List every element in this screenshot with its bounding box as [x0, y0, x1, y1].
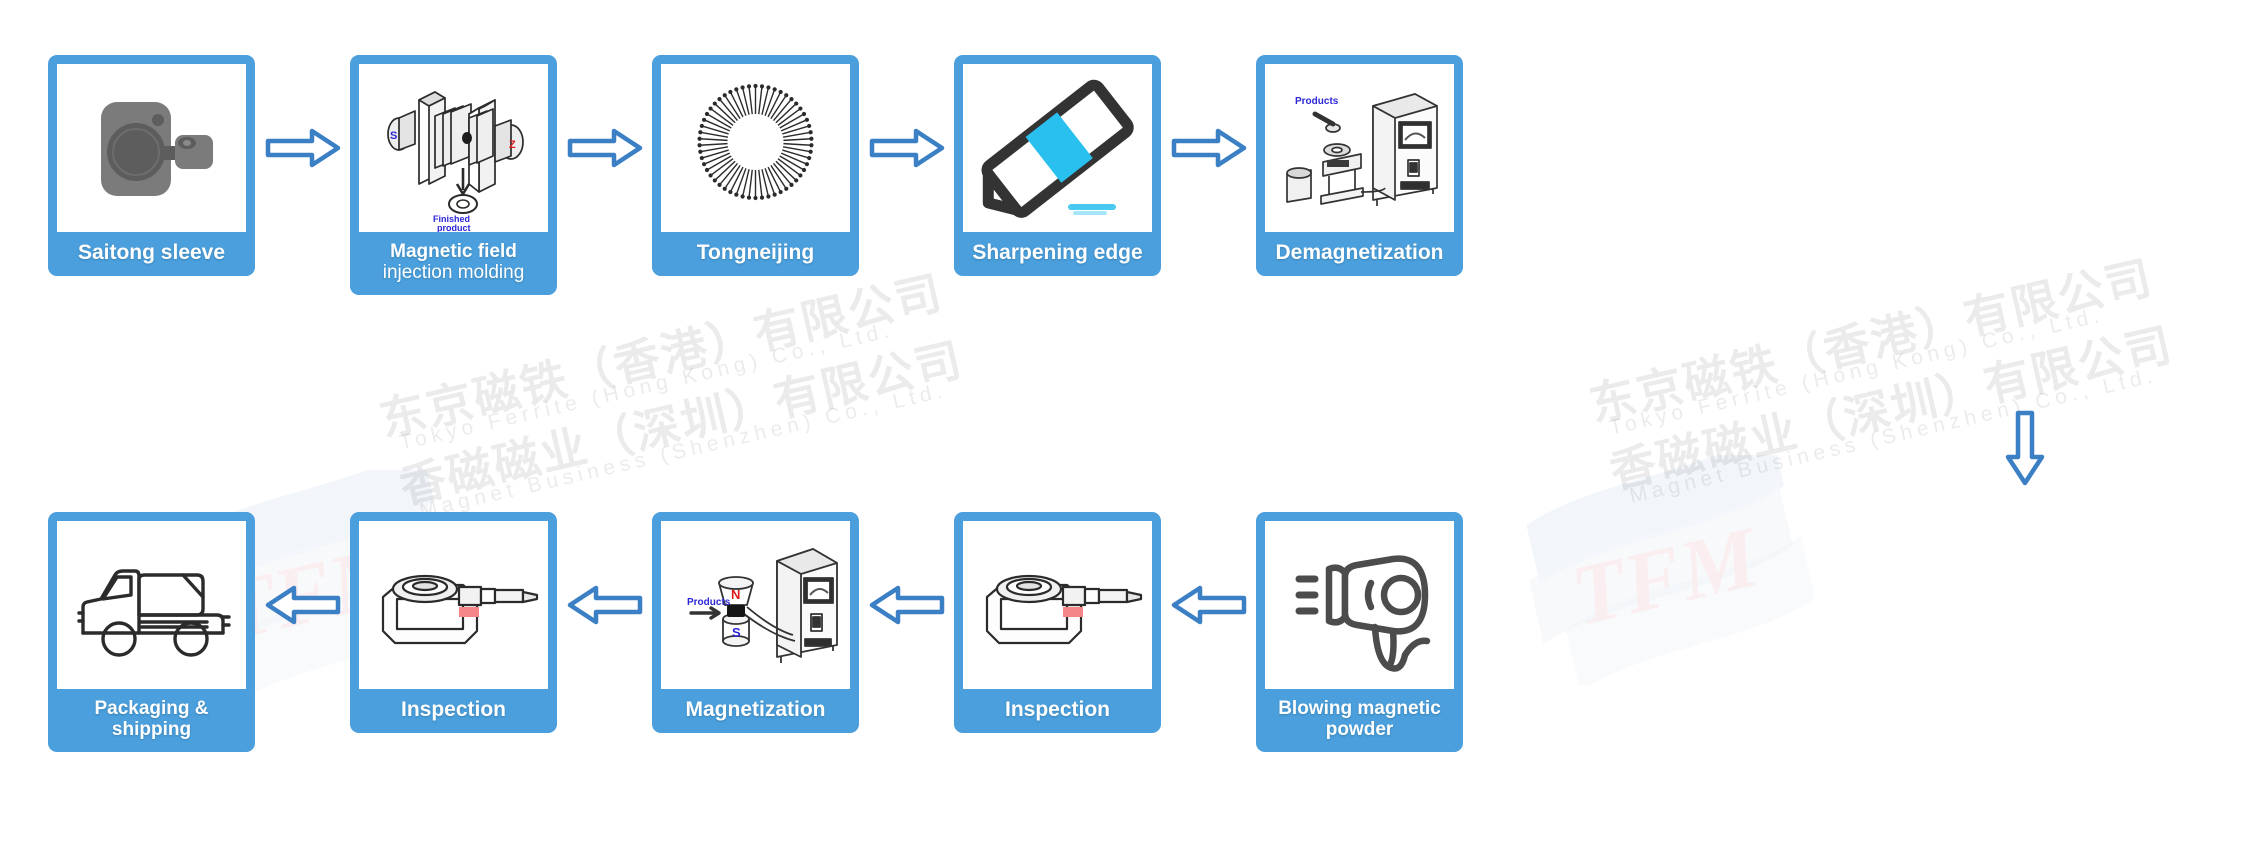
arrow-left-icon	[265, 585, 341, 625]
arrow-left-icon	[567, 585, 643, 625]
arrow-right-icon	[1171, 128, 1247, 168]
flow-card-tongneijing[interactable]: Tongneijing	[652, 55, 859, 276]
label-line-1: Blowing magnetic	[1278, 698, 1441, 719]
flow-arrow-left-2	[557, 512, 652, 698]
watermark-en-line-2: Magnet Business (Shenzhen) Co., Ltd.	[417, 379, 949, 524]
flow-card-label-magnetization: Magnetization	[661, 689, 850, 733]
svg-text:product: product	[437, 223, 471, 232]
camera-module-icon	[57, 64, 246, 232]
flow-card-label-sharpening-edge: Sharpening edge	[963, 232, 1152, 276]
delivery-truck-icon	[57, 521, 246, 689]
flow-card-illustration-magnetic-molding: S Z Finished product	[359, 64, 548, 232]
micrometer-gauge-icon	[359, 521, 548, 689]
arrow-right-icon	[567, 128, 643, 168]
svg-text:TFM: TFM	[1563, 508, 1769, 644]
flow-card-label-inspection-mid: Inspection	[963, 689, 1152, 733]
flow-card-illustration-saitong-sleeve	[57, 64, 246, 232]
flow-card-sharpening-edge[interactable]: Sharpening edge	[954, 55, 1161, 276]
flow-card-label-demagnetization: Demagnetization	[1265, 232, 1454, 276]
flow-card-saitong-sleeve[interactable]: Saitong sleeve	[48, 55, 255, 276]
flow-row-bottom: Packaging &shipping	[48, 512, 1463, 752]
flow-card-label-saitong-sleeve: Saitong sleeve	[57, 232, 246, 276]
watermark-en-line-1: Tokyo Ferrite (Hong Kong) Co., Ltd.	[397, 318, 896, 455]
label-line-2: shipping	[112, 719, 191, 740]
flow-card-blowing-magnetic-powder[interactable]: Blowing magneticpowder	[1256, 512, 1463, 752]
label-line-1: Packaging &	[94, 698, 208, 719]
flow-card-illustration-blowing-magnetic-powder	[1265, 521, 1454, 689]
flow-card-illustration-sharpening-edge	[963, 64, 1152, 232]
magnetic-molding-press-icon: S Z Finished product	[359, 64, 548, 232]
flow-card-illustration-demagnetization: Products	[1265, 64, 1454, 232]
eraser-sharpener-icon	[963, 64, 1152, 232]
watermark-cn-line-3: 东京磁铁（香港）有限公司	[1583, 241, 2159, 435]
flow-card-inspection-mid[interactable]: Inspection	[954, 512, 1161, 733]
flow-arrow-left-3	[859, 512, 954, 698]
arrow-right-icon	[265, 128, 341, 168]
flow-arrow-left-1	[255, 512, 350, 698]
arrow-left-icon	[869, 585, 945, 625]
flow-row-top: Saitong sleeve	[48, 55, 1463, 295]
process-flow-diagram: 东京磁铁（香港）有限公司 Tokyo Ferrite (Hong Kong) C…	[0, 0, 2244, 866]
flow-arrow-down-1	[1995, 400, 2055, 495]
blower-dryer-icon	[1265, 521, 1454, 689]
products-label: Products	[1295, 96, 1339, 107]
magnetizer-machine-icon: Products N S	[661, 521, 850, 689]
arrow-left-icon	[1171, 585, 1247, 625]
pole-label-s: S	[732, 625, 741, 640]
flow-card-label-blowing-magnetic-powder: Blowing magneticpowder	[1265, 689, 1454, 752]
flow-card-inspection-final[interactable]: Inspection	[350, 512, 557, 733]
flow-card-illustration-packaging-shipping	[57, 521, 246, 689]
flow-card-label-inspection-final: Inspection	[359, 689, 548, 733]
arrow-right-icon	[869, 128, 945, 168]
flow-card-magnetization[interactable]: Products N S Magnetization	[652, 512, 859, 733]
flow-arrow-left-4	[1161, 512, 1256, 698]
micrometer-gauge-icon	[963, 521, 1152, 689]
pole-label-z: Z	[509, 139, 516, 151]
products-label: Products	[687, 597, 731, 608]
label-bold-part: Magnetic field	[390, 241, 517, 262]
watermark-en-line-4: Magnet Business (Shenzhen) Co., Ltd.	[1627, 364, 2159, 509]
pole-label-s: S	[390, 130, 397, 142]
label-line-2: powder	[1326, 719, 1394, 740]
flow-card-label-tongneijing: Tongneijing	[661, 232, 850, 276]
flow-card-label-magnetic-field-injection-molding: Magnetic field injection molding	[359, 232, 548, 295]
pole-label-n: N	[731, 587, 740, 602]
flow-arrow-right-3	[859, 55, 954, 241]
flow-card-illustration-magnetization: Products N S	[661, 521, 850, 689]
flow-card-demagnetization[interactable]: Products Demagnetization	[1256, 55, 1463, 276]
flow-card-magnetic-field-injection-molding[interactable]: S Z Finished product Magnetic field inje…	[350, 55, 557, 295]
tfm-watermark-logo-right: TFM	[1500, 455, 1830, 685]
flow-card-illustration-inspection-mid	[963, 521, 1152, 689]
watermark-cn-line-4: 香磁磁业（深圳）有限公司	[1603, 308, 2179, 502]
flow-card-label-packaging-shipping: Packaging &shipping	[57, 689, 246, 752]
flow-card-illustration-inspection-final	[359, 521, 548, 689]
demagnetizer-machine-icon: Products	[1265, 64, 1454, 232]
watermark-cn-line-2: 香磁磁业（深圳）有限公司	[393, 323, 969, 517]
flow-arrow-right-1	[255, 55, 350, 241]
flow-arrow-right-4	[1161, 55, 1256, 241]
flow-arrow-right-2	[557, 55, 652, 241]
flow-card-illustration-tongneijing	[661, 64, 850, 232]
arrow-down-icon	[2005, 410, 2045, 486]
radial-pin-burst-icon	[661, 64, 850, 232]
label-rest-part: injection molding	[383, 262, 525, 283]
flow-card-packaging-shipping[interactable]: Packaging &shipping	[48, 512, 255, 752]
